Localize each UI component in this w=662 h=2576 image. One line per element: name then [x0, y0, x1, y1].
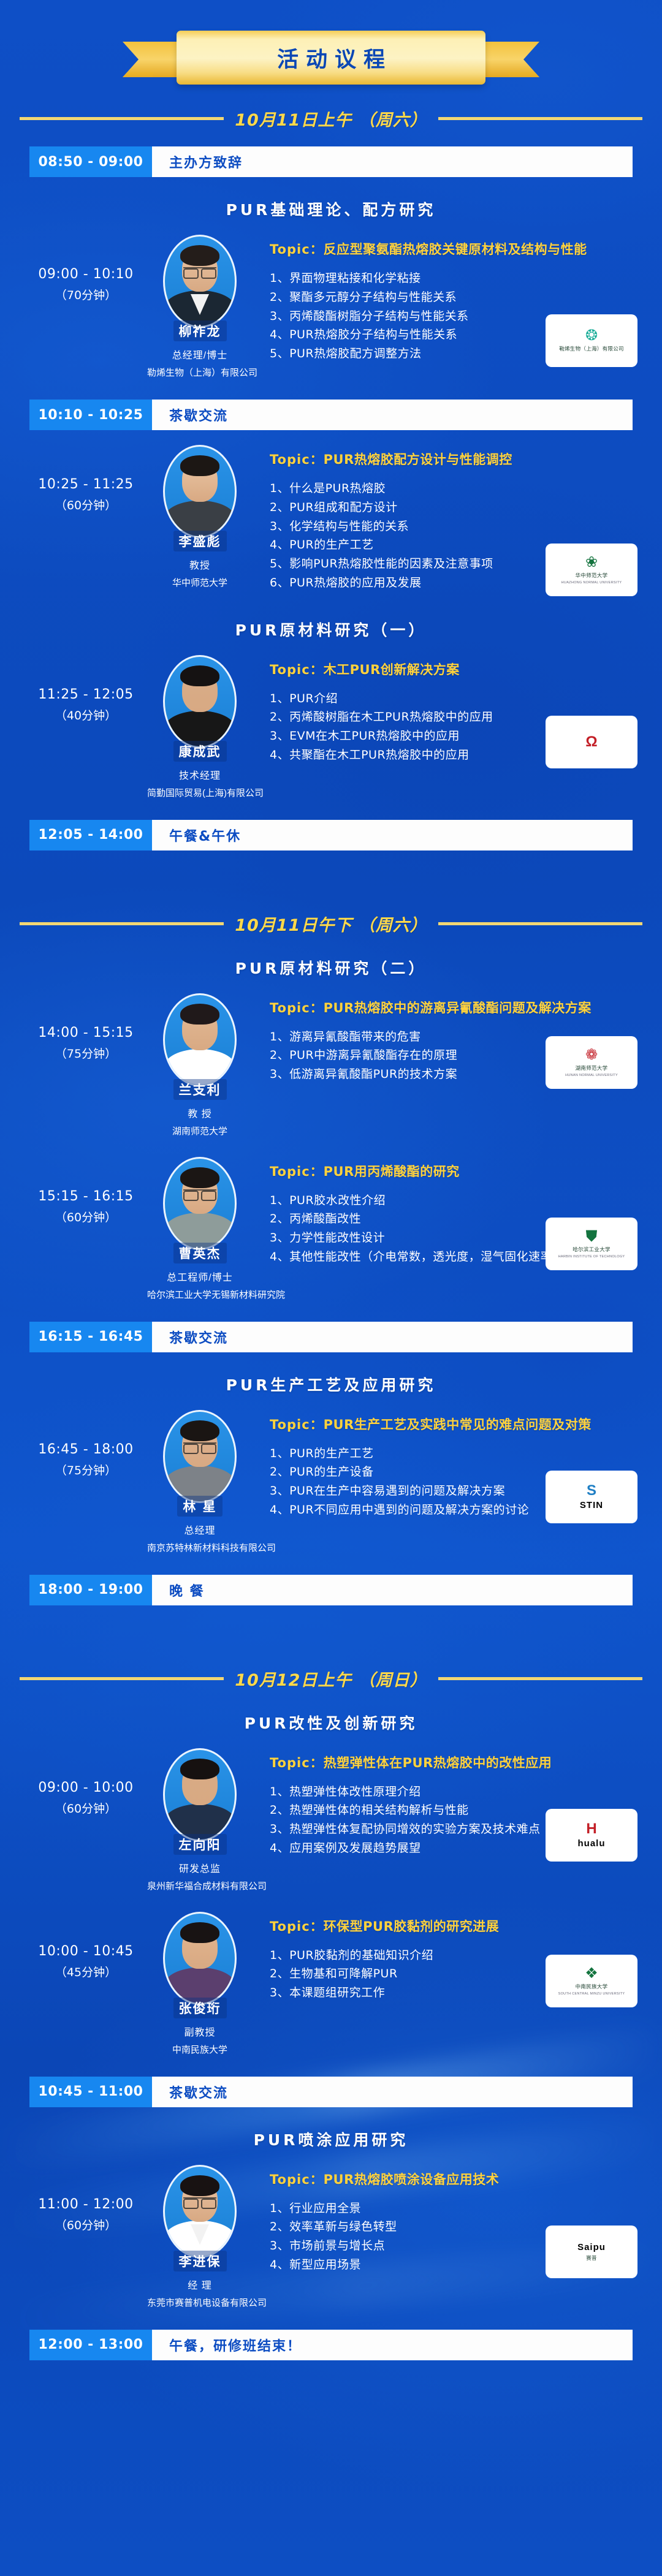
day-header-line [438, 117, 642, 120]
talk-topic-text: 反应型聚氨酯热熔胶关键原材料及结构与性能 [324, 242, 587, 257]
talk-content: Topic：PUR热熔胶喷涂设备应用技术1、行业应用全景2、效率革新与绿色转型3… [253, 2165, 637, 2275]
break-row: 10:45 - 11:00茶歇交流 [29, 2077, 633, 2107]
talk-topic-label: Topic： [270, 1417, 324, 1432]
break-row: 12:00 - 13:00午餐，研修班结束！ [29, 2330, 633, 2360]
day-header: 10月11日午下 （周六） [0, 912, 662, 936]
speaker-org: 勒烯生物（上海）有限公司 [147, 366, 253, 379]
speaker-role: 教 授 [147, 1105, 253, 1120]
speaker-photo [163, 1410, 237, 1503]
speaker-photo [163, 655, 237, 748]
speaker-name: 张俊珩 [173, 1998, 227, 2018]
talk-row: 09:00 - 10:00（60分钟）左向阳研发总监泉州新华福合成材料有限公司T… [0, 1733, 662, 1897]
speaker-block: 兰支利教 授湖南师范大学 [147, 993, 253, 1137]
speaker-name: 林 星 [177, 1496, 222, 1517]
talk-duration: （45分钟） [25, 1963, 147, 1980]
break-row: 10:10 - 10:25茶歇交流 [29, 400, 633, 430]
speaker-name: 左向阳 [173, 1834, 227, 1855]
speaker-photo [163, 2165, 237, 2258]
logo-mark-icon: ❀ [585, 555, 598, 570]
photo-glasses [183, 2197, 216, 2206]
speaker-photo [163, 1157, 237, 1250]
speaker-org: 湖南师范大学 [147, 1124, 253, 1137]
talk-topic-text: PUR热熔胶中的游离异氰酸酯问题及解决方案 [324, 1001, 592, 1015]
talk-row: 16:45 - 18:00（75分钟）林 星总经理南京苏特林新材料科技有限公司T… [0, 1395, 662, 1559]
speaker-org: 中南民族大学 [147, 2043, 253, 2056]
photo-glasses [183, 267, 216, 276]
speaker-name-wrap: 李盛彪 [147, 538, 253, 551]
speaker-name-wrap: 左向阳 [147, 1841, 253, 1855]
talk-content: Topic：反应型聚氨酯热熔胶关键原材料及结构与性能1、界面物理粘接和化学粘接2… [253, 235, 637, 363]
break-time: 16:15 - 16:45 [29, 1322, 152, 1352]
speaker-role: 总工程师/博士 [147, 1269, 253, 1284]
day-spacer [0, 2360, 662, 2400]
company-logo: SSTIN [546, 1471, 637, 1523]
day-header-line [20, 1677, 224, 1680]
day-header-title: 10月11日午下 （周六） [235, 912, 427, 936]
ribbon-banner: 活动议程 [129, 17, 533, 85]
speaker-name-wrap: 康成武 [147, 748, 253, 762]
company-logo: Ω [546, 716, 637, 768]
logo-subtitle: HUAZHONG NORMAL UNIVERSITY [561, 581, 622, 585]
talk-row: 09:00 - 10:10（70分钟）柳祚龙总经理/博士勒烯生物（上海）有限公司… [0, 220, 662, 384]
speaker-role: 总经理/博士 [147, 347, 253, 362]
break-time: 08:50 - 09:00 [29, 146, 152, 177]
speaker-name-wrap: 柳祚龙 [147, 328, 253, 341]
logo-name: 赛普 [586, 2254, 597, 2262]
talk-topic-label: Topic： [270, 2172, 324, 2187]
speaker-name: 李盛彪 [173, 531, 227, 551]
talk-topic-label: Topic： [270, 242, 324, 257]
talk-duration: （70分钟） [25, 286, 147, 303]
company-logo: Saipu赛普 [546, 2226, 637, 2278]
talk-bullet: 1、什么是PUR热熔胶 [270, 479, 637, 498]
speaker-photo [163, 993, 237, 1086]
talk-duration: （60分钟） [25, 2216, 147, 2233]
speaker-role: 副教授 [147, 2024, 253, 2039]
break-label: 茶歇交流 [152, 400, 633, 430]
photo-hair [180, 1759, 219, 1779]
break-label: 茶歇交流 [152, 2077, 633, 2107]
break-time: 10:45 - 11:00 [29, 2077, 152, 2107]
talk-time-column: 09:00 - 10:10（70分钟） [25, 235, 147, 303]
talk-row: 15:15 - 16:15（60分钟）曹英杰总工程师/博士哈尔滨工业大学无锡新材… [0, 1142, 662, 1306]
talk-time-column: 11:25 - 12:05（40分钟） [25, 655, 147, 723]
company-logo: ❀华中师范大学HUAZHONG NORMAL UNIVERSITY [546, 544, 637, 596]
talk-topic: Topic：热塑弹性体在PUR热熔胶中的改性应用 [270, 1753, 637, 1771]
talk-topic-label: Topic： [270, 1001, 324, 1015]
break-row: 08:50 - 09:00主办方致辞 [29, 146, 633, 177]
company-logo: ❂勒烯生物（上海）有限公司 [546, 314, 637, 367]
speaker-role: 研发总监 [147, 1860, 253, 1875]
break-time: 18:00 - 19:00 [29, 1575, 152, 1605]
speaker-name: 曹英杰 [173, 1243, 227, 1263]
speaker-name: 柳祚龙 [173, 320, 227, 341]
speaker-block: 康成武技术经理简勤国际贸易(上海)有限公司 [147, 655, 253, 799]
talk-row: 10:00 - 10:45（45分钟）张俊珩副教授中南民族大学Topic：环保型… [0, 1897, 662, 2061]
banner: 活动议程 [0, 0, 662, 85]
talk-content: Topic：PUR生产工艺及实践中常见的难点问题及对策1、PUR的生产工艺2、P… [253, 1410, 637, 1520]
talk-time-range: 16:45 - 18:00 [25, 1442, 147, 1457]
talk-time-range: 09:00 - 10:10 [25, 267, 147, 282]
photo-hair [180, 2175, 219, 2196]
photo-hair [180, 455, 219, 476]
speaker-block: 李进保经 理东莞市赛普机电设备有限公司 [147, 2165, 253, 2309]
day-header-title: 10月12日上午 （周日） [235, 1667, 427, 1691]
photo-glasses [183, 1189, 216, 1198]
logo-mark-icon: H [586, 1822, 596, 1836]
talk-topic-text: PUR生产工艺及实践中常见的难点问题及对策 [324, 1417, 592, 1432]
speaker-role: 教授 [147, 557, 253, 572]
talk-duration: （75分钟） [25, 1045, 147, 1061]
logo-mark-icon: ❂ [585, 328, 598, 343]
day-header: 10月12日上午 （周日） [0, 1667, 662, 1691]
speaker-name-wrap: 兰支利 [147, 1086, 253, 1100]
talk-topic: Topic：环保型PUR胶黏剂的研究进展 [270, 1917, 637, 1935]
speaker-block: 李盛彪教授华中师范大学 [147, 445, 253, 589]
talk-bullet: 1、界面物理粘接和化学粘接 [270, 269, 637, 288]
day-header-title: 10月11日上午 （周六） [235, 107, 427, 131]
talk-bullet: 2、聚酯多元醇分子结构与性能关系 [270, 288, 637, 307]
break-row: 18:00 - 19:00晚 餐 [29, 1575, 633, 1605]
talk-topic-label: Topic： [270, 1919, 324, 1934]
talk-time-column: 10:25 - 11:25（60分钟） [25, 445, 147, 513]
talk-topic-text: PUR热熔胶喷涂设备应用技术 [324, 2172, 500, 2187]
talk-topic-text: 环保型PUR胶黏剂的研究进展 [324, 1919, 500, 1934]
talk-duration: （60分钟） [25, 1208, 147, 1225]
speaker-name-wrap: 曹英杰 [147, 1250, 253, 1263]
speaker-name-wrap: 张俊珩 [147, 2005, 253, 2018]
talk-bullet: 1、热塑弹性体改性原理介绍 [270, 1782, 637, 1801]
section-title: PUR原材料研究（一） [0, 618, 662, 640]
speaker-role: 技术经理 [147, 767, 253, 782]
talk-topic: Topic：PUR用丙烯酸酯的研究 [270, 1162, 637, 1180]
talk-topic: Topic：PUR生产工艺及实践中常见的难点问题及对策 [270, 1415, 637, 1433]
break-time: 12:00 - 13:00 [29, 2330, 152, 2360]
break-row: 16:15 - 16:45茶歇交流 [29, 1322, 633, 1352]
logo-mark-icon: ❁ [585, 1048, 598, 1063]
logo-name: 中南民族大学 [576, 1983, 608, 1990]
logo-name: 勒烯生物（上海）有限公司 [559, 345, 624, 352]
logo-name: 哈尔滨工业大学 [573, 1246, 611, 1253]
logo-wordmark: hualu [578, 1838, 606, 1849]
talk-duration: （40分钟） [25, 707, 147, 723]
day-header-line [438, 922, 642, 925]
break-time: 12:05 - 14:00 [29, 820, 152, 850]
break-label: 主办方致辞 [152, 146, 633, 177]
talk-topic: Topic：PUR热熔胶配方设计与性能调控 [270, 450, 637, 468]
talk-time-column: 10:00 - 10:45（45分钟） [25, 1912, 147, 1980]
logo-mark-icon: S [587, 1483, 596, 1498]
logo-mark-icon: Ω [585, 735, 597, 749]
speaker-block: 柳祚龙总经理/博士勒烯生物（上海）有限公司 [147, 235, 253, 379]
talk-row: 14:00 - 15:15（75分钟）兰支利教 授湖南师范大学Topic：PUR… [0, 979, 662, 1142]
speaker-photo [163, 235, 237, 328]
speaker-name-wrap: 林 星 [147, 1503, 253, 1517]
break-label: 午餐，研修班结束！ [152, 2330, 633, 2360]
talk-content: Topic：PUR热熔胶中的游离异氰酸酯问题及解决方案1、游离异氰酸酯带来的危害… [253, 993, 637, 1085]
talk-topic-label: Topic： [270, 1756, 324, 1770]
speaker-role: 总经理 [147, 1522, 253, 1537]
logo-mark-icon: ⛊ [586, 1229, 597, 1244]
talk-topic: Topic：木工PUR创新解决方案 [270, 660, 637, 678]
logo-subtitle: SOUTH CENTRAL MINZU UNIVERSITY [558, 1992, 625, 1996]
talk-topic-text: 木工PUR创新解决方案 [324, 662, 460, 677]
speaker-block: 左向阳研发总监泉州新华福合成材料有限公司 [147, 1748, 253, 1892]
speaker-org: 泉州新华福合成材料有限公司 [147, 1879, 253, 1892]
speaker-block: 曹英杰总工程师/博士哈尔滨工业大学无锡新材料研究院 [147, 1157, 253, 1301]
talk-time-range: 11:00 - 12:00 [25, 2197, 147, 2212]
speaker-photo [163, 445, 237, 538]
section-title: PUR基础理论、配方研究 [0, 198, 662, 220]
company-logo: ❁湖南师范大学HUNAN NORMAL UNIVERSITY [546, 1036, 637, 1089]
talk-row: 11:25 - 12:05（40分钟）康成武技术经理简勤国际贸易(上海)有限公司… [0, 640, 662, 804]
talk-topic: Topic：PUR热熔胶喷涂设备应用技术 [270, 2170, 637, 2188]
break-label: 晚 餐 [152, 1575, 633, 1605]
logo-name: 湖南师范大学 [576, 1064, 608, 1072]
talk-topic-label: Topic： [270, 662, 324, 677]
company-logo: ⛊哈尔滨工业大学HARBIN INSTITUTE OF TECHNOLOGY [546, 1218, 637, 1270]
section-title: PUR原材料研究（二） [0, 957, 662, 979]
break-time: 10:10 - 10:25 [29, 400, 152, 430]
talk-time-column: 16:45 - 18:00（75分钟） [25, 1410, 147, 1478]
company-logo: Hhualu [546, 1809, 637, 1862]
company-logo: ❖中南民族大学SOUTH CENTRAL MINZU UNIVERSITY [546, 1955, 637, 2007]
photo-hair [180, 1922, 219, 1943]
talk-time-range: 11:25 - 12:05 [25, 687, 147, 702]
speaker-org: 东莞市赛普机电设备有限公司 [147, 2296, 253, 2309]
agenda-page: 活动议程 10月11日上午 （周六）08:50 - 09:00主办方致辞PUR基… [0, 0, 662, 2400]
talk-time-range: 10:00 - 10:45 [25, 1944, 147, 1959]
logo-subtitle: HARBIN INSTITUTE OF TECHNOLOGY [558, 1255, 625, 1259]
break-label: 午餐&午休 [152, 820, 633, 850]
talk-topic-text: 热塑弹性体在PUR热熔胶中的改性应用 [324, 1756, 552, 1770]
speaker-photo [163, 1912, 237, 2005]
talk-time-range: 14:00 - 15:15 [25, 1025, 147, 1040]
talk-time-range: 10:25 - 11:25 [25, 477, 147, 492]
speaker-org: 华中师范大学 [147, 576, 253, 589]
talk-row: 10:25 - 11:25（60分钟）李盛彪教授华中师范大学Topic：PUR热… [0, 430, 662, 597]
talk-topic: Topic：PUR热熔胶中的游离异氰酸酯问题及解决方案 [270, 998, 637, 1017]
break-label: 茶歇交流 [152, 1322, 633, 1352]
speaker-block: 林 星总经理南京苏特林新材料科技有限公司 [147, 1410, 253, 1554]
day-header-line [20, 922, 224, 925]
talk-bullet: 1、行业应用全景 [270, 2199, 637, 2218]
speaker-photo [163, 1748, 237, 1841]
speaker-role: 经 理 [147, 2277, 253, 2292]
day-header-line [438, 1677, 642, 1680]
speaker-block: 张俊珩副教授中南民族大学 [147, 1912, 253, 2056]
talk-duration: （60分钟） [25, 1800, 147, 1816]
talk-topic-label: Topic： [270, 452, 324, 467]
speaker-name: 康成武 [173, 741, 227, 762]
talk-content: Topic：木工PUR创新解决方案1、PUR介绍2、丙烯酸树脂在木工PUR热熔胶… [253, 655, 637, 765]
speaker-name: 兰支利 [173, 1079, 227, 1100]
speaker-name: 李进保 [173, 2251, 227, 2271]
logo-mark-icon: Saipu [577, 2242, 606, 2252]
photo-hair [180, 1004, 219, 1025]
talk-topic-text: PUR热熔胶配方设计与性能调控 [324, 452, 512, 467]
talk-row: 11:00 - 12:00（60分钟）李进保经 理东莞市赛普机电设备有限公司To… [0, 2150, 662, 2314]
day-spacer [0, 1605, 662, 1645]
talk-bullet: 2、PUR组成和配方设计 [270, 498, 637, 517]
talk-duration: （75分钟） [25, 1461, 147, 1478]
talk-content: Topic：PUR用丙烯酸酯的研究1、PUR胶水改性介绍2、丙烯酸酯改性3、力学… [253, 1157, 637, 1267]
section-title: PUR改性及创新研究 [0, 1711, 662, 1733]
talk-bullet: 3、化学结构与性能的关系 [270, 517, 637, 536]
talk-content: Topic：热塑弹性体在PUR热熔胶中的改性应用1、热塑弹性体改性原理介绍2、热… [253, 1748, 637, 1858]
speaker-name-wrap: 李进保 [147, 2258, 253, 2271]
section-title: PUR喷涂应用研究 [0, 2128, 662, 2150]
talk-content: Topic：环保型PUR胶黏剂的研究进展1、PUR胶黏剂的基础知识介绍2、生物基… [253, 1912, 637, 2004]
talk-time-column: 11:00 - 12:00（60分钟） [25, 2165, 147, 2233]
talk-content: Topic：PUR热熔胶配方设计与性能调控1、什么是PUR热熔胶2、PUR组成和… [253, 445, 637, 593]
photo-hair [180, 245, 219, 266]
talk-bullet: 1、PUR的生产工艺 [270, 1444, 637, 1463]
talk-bullet: 1、PUR介绍 [270, 689, 637, 708]
banner-title: 活动议程 [270, 42, 392, 74]
speaker-org: 南京苏特林新材料科技有限公司 [147, 1541, 253, 1554]
speaker-org: 哈尔滨工业大学无锡新材料研究院 [147, 1288, 253, 1301]
ribbon-plate: 活动议程 [177, 31, 485, 85]
day-header-line [20, 117, 224, 120]
talk-time-column: 09:00 - 10:00（60分钟） [25, 1748, 147, 1816]
section-title: PUR生产工艺及应用研究 [0, 1373, 662, 1395]
talk-bullet: 1、PUR胶水改性介绍 [270, 1191, 637, 1210]
talk-time-column: 14:00 - 15:15（75分钟） [25, 993, 147, 1061]
talk-time-column: 15:15 - 16:15（60分钟） [25, 1157, 147, 1225]
photo-glasses [183, 1442, 216, 1451]
photo-hair [180, 1167, 219, 1188]
speaker-org: 简勤国际贸易(上海)有限公司 [147, 786, 253, 799]
logo-wordmark: STIN [580, 1500, 603, 1510]
photo-hair [180, 1420, 219, 1441]
talk-topic-text: PUR用丙烯酸酯的研究 [324, 1164, 460, 1179]
talk-duration: （60分钟） [25, 496, 147, 513]
logo-name: 华中师范大学 [576, 572, 608, 579]
talk-time-range: 09:00 - 10:00 [25, 1780, 147, 1795]
day-header: 10月11日上午 （周六） [0, 107, 662, 131]
logo-mark-icon: ❖ [585, 1966, 598, 1981]
talk-time-range: 15:15 - 16:15 [25, 1189, 147, 1204]
day-spacer [0, 850, 662, 890]
photo-hair [180, 665, 219, 686]
talk-topic-label: Topic： [270, 1164, 324, 1179]
logo-subtitle: HUNAN NORMAL UNIVERSITY [565, 1074, 618, 1077]
days-container: 10月11日上午 （周六）08:50 - 09:00主办方致辞PUR基础理论、配… [0, 107, 662, 2400]
break-row: 12:05 - 14:00午餐&午休 [29, 820, 633, 850]
talk-topic: Topic：反应型聚氨酯热熔胶关键原材料及结构与性能 [270, 240, 637, 258]
